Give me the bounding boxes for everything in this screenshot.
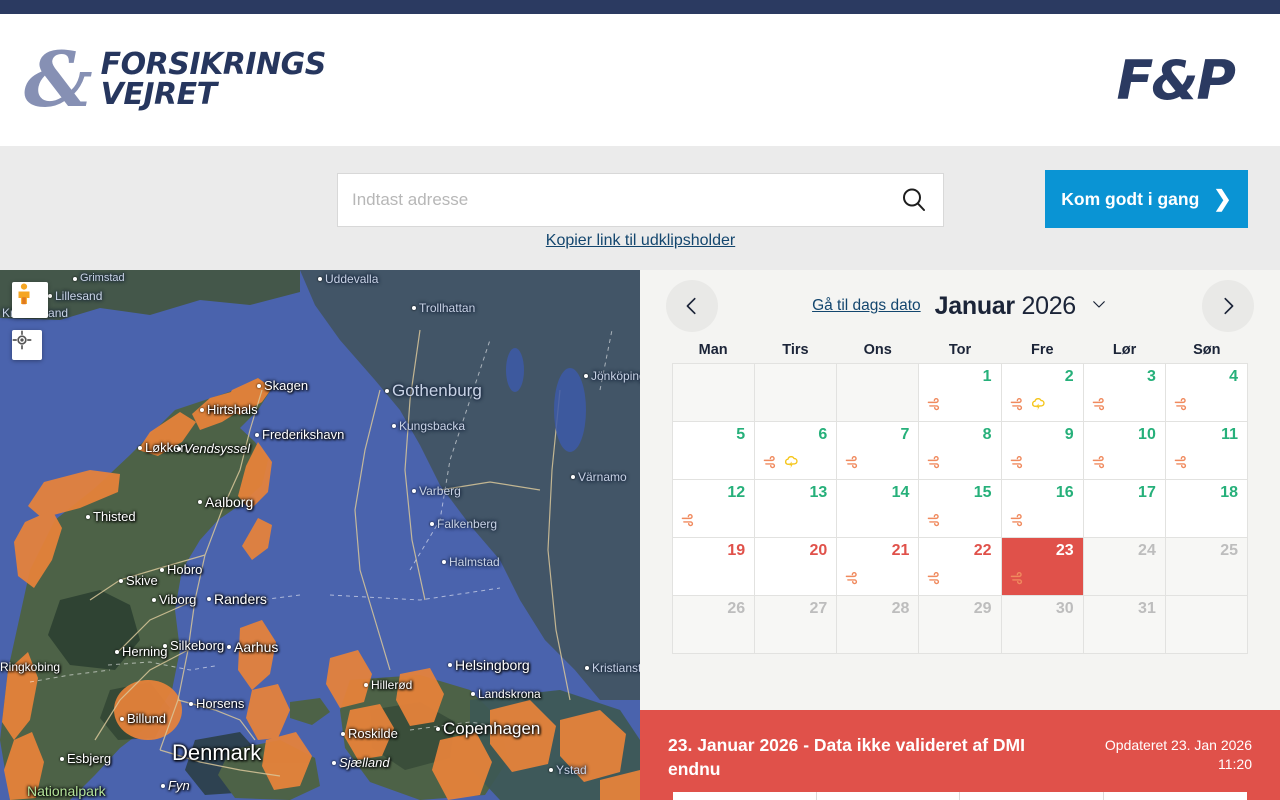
day-weather-icons [1010,395,1047,413]
previous-month-button[interactable] [666,280,718,332]
day-weather-icons [927,511,944,529]
day-weather-icons [1174,453,1191,471]
calendar-day-4[interactable]: 4 [1166,364,1248,422]
forecast-table-col-2 [817,792,961,800]
forecast-table-col-1 [673,792,817,800]
calendar-day-25: 25 [1166,538,1248,596]
wind-icon [845,570,862,587]
address-search-box[interactable] [337,173,944,227]
day-number: 22 [919,543,991,559]
day-weather-icons [1092,395,1109,413]
calendar-day-15[interactable]: 15 [919,480,1001,538]
day-number: 5 [673,427,745,443]
day-number: 9 [1002,427,1074,443]
chevron-down-icon[interactable] [1090,295,1108,318]
search-input[interactable] [352,190,899,210]
weekday-label: Tirs [754,342,836,358]
calendar-day-5[interactable]: 5 [673,422,755,480]
wind-icon [1174,396,1191,413]
next-month-button[interactable] [1202,280,1254,332]
month-name: Januar [935,292,1015,320]
day-number: 25 [1166,543,1238,559]
calendar-day-6[interactable]: 6 [755,422,837,480]
calendar-grid[interactable]: 1234567891011121314151617181920212223242… [672,363,1248,654]
calendar-cell-empty [1166,596,1248,654]
day-weather-icons [763,453,800,471]
calendar-day-14[interactable]: 14 [837,480,919,538]
day-number: 6 [755,427,827,443]
main-content: GrimstadLillesandKristiansandUddevallaTr… [0,270,1280,800]
year-value: 2026 [1022,292,1076,320]
calendar-day-3[interactable]: 3 [1084,364,1166,422]
calendar-day-1[interactable]: 1 [919,364,1001,422]
wind-icon [1174,454,1191,471]
day-number: 11 [1166,427,1238,443]
banner-title: 23. Januar 2026 - Data ikke valideret af… [668,734,1068,781]
get-started-label: Kom godt i gang [1061,189,1199,210]
day-number: 15 [919,485,991,501]
day-weather-icons [845,569,862,587]
wind-icon [845,454,862,471]
calendar-day-17[interactable]: 17 [1084,480,1166,538]
day-number: 8 [919,427,991,443]
calendar-day-19[interactable]: 19 [673,538,755,596]
calendar-day-2[interactable]: 2 [1002,364,1084,422]
calendar-day-29: 29 [919,596,1001,654]
calendar-day-27: 27 [755,596,837,654]
wind-icon [927,570,944,587]
weekday-label: Man [672,342,754,358]
day-number: 4 [1166,369,1238,385]
day-weather-icons [1010,453,1027,471]
wind-icon [1010,512,1027,529]
calendar-title-group: Gå til dags dato Januar 2026 [718,292,1202,321]
day-number: 1 [919,369,991,385]
day-number: 30 [1002,601,1074,617]
map-graphics [0,270,640,800]
day-number: 10 [1084,427,1156,443]
brand-line-2: VEJRET [101,80,326,110]
weekday-label: Lør [1083,342,1165,358]
site-header: & FORSIKRINGS VEJRET F&P [0,14,1280,146]
day-number: 20 [755,543,827,559]
day-number: 23 [1002,543,1074,559]
day-number: 16 [1002,485,1074,501]
day-number: 21 [837,543,909,559]
day-weather-icons [927,395,944,413]
day-number: 12 [673,485,745,501]
day-number: 26 [673,601,745,617]
day-number: 31 [1084,601,1156,617]
day-number: 19 [673,543,745,559]
day-number: 29 [919,601,991,617]
wind-icon [763,454,780,471]
calendar-day-26: 26 [673,596,755,654]
weekday-label: Fre [1001,342,1083,358]
wind-icon [927,396,944,413]
calendar-cell-empty [837,364,919,422]
wind-icon [1010,396,1027,413]
my-location-icon[interactable] [12,330,42,360]
weekday-label: Ons [837,342,919,358]
weekday-label: Søn [1166,342,1248,358]
brand-line-1: FORSIKRINGS [101,50,326,80]
brand-logo[interactable]: & FORSIKRINGS VEJRET [24,48,326,113]
weekday-header-row: ManTirsOnsTorFreLørSøn [640,342,1280,358]
forecast-table-top[interactable] [673,792,1247,800]
wind-icon [1092,454,1109,471]
calendar-day-22[interactable]: 22 [919,538,1001,596]
day-weather-icons [681,511,698,529]
day-number: 24 [1084,543,1156,559]
calendar-day-16[interactable]: 16 [1002,480,1084,538]
day-number: 18 [1166,485,1238,501]
ampersand-logo-icon: & [24,48,91,113]
thunderstorm-icon [1030,396,1047,413]
day-number: 17 [1084,485,1156,501]
calendar-day-24: 24 [1084,538,1166,596]
calendar-cell-empty [755,364,837,422]
day-weather-icons [1010,511,1027,529]
day-number: 3 [1084,369,1156,385]
calendar-day-11[interactable]: 11 [1166,422,1248,480]
address-search-wrapper [337,173,944,227]
forecast-table-col-3 [960,792,1104,800]
calendar-cell-empty [673,364,755,422]
brand-wordmark: FORSIKRINGS VEJRET [101,50,326,110]
go-to-today-link[interactable]: Gå til dags dato [812,297,921,315]
calendar-day-20[interactable]: 20 [755,538,837,596]
thunderstorm-icon [783,454,800,471]
chevron-left-icon [681,295,703,317]
validation-banner: 23. Januar 2026 - Data ikke valideret af… [640,710,1280,800]
calendar-day-31: 31 [1084,596,1166,654]
street-view-pegman-icon[interactable] [12,282,48,318]
fp-partner-logo[interactable]: F&P [1116,49,1234,112]
calendar-day-23[interactable]: 23 [1002,538,1084,596]
map-canvas[interactable]: GrimstadLillesandKristiansandUddevallaTr… [0,270,640,800]
chevron-right-icon: ❯ [1213,188,1231,210]
day-weather-icons [927,569,944,587]
calendar-day-21[interactable]: 21 [837,538,919,596]
wind-icon [927,454,944,471]
wind-icon [681,512,698,529]
calendar-day-7[interactable]: 7 [837,422,919,480]
wind-icon [1010,570,1027,587]
calendar-header: Gå til dags dato Januar 2026 [640,270,1280,342]
calendar-day-10[interactable]: 10 [1084,422,1166,480]
calendar-panel: Gå til dags dato Januar 2026 ManTirsOnsT… [640,270,1280,800]
calendar-day-13[interactable]: 13 [755,480,837,538]
day-weather-icons [927,453,944,471]
calendar-day-9[interactable]: 9 [1002,422,1084,480]
wind-icon [927,512,944,529]
day-number: 2 [1002,369,1074,385]
month-year-label[interactable]: Januar 2026 [935,292,1076,321]
chevron-right-icon [1217,295,1239,317]
calendar-day-12[interactable]: 12 [673,480,755,538]
day-weather-icons [845,453,862,471]
search-icon[interactable] [899,185,929,215]
day-number: 7 [837,427,909,443]
wind-icon [1092,396,1109,413]
weekday-label: Tor [919,342,1001,358]
day-weather-icons [1092,453,1109,471]
calendar-day-28: 28 [837,596,919,654]
get-started-button[interactable]: Kom godt i gang ❯ [1045,170,1248,228]
day-weather-icons [1174,395,1191,413]
copy-link-to-clipboard[interactable]: Kopier link til udklipsholder [337,232,944,250]
top-navy-bar [0,0,1280,14]
day-number: 14 [837,485,909,501]
banner-updated-timestamp: Opdateret 23. Jan 2026 11:20 [1105,736,1252,774]
day-number: 13 [755,485,827,501]
calendar-day-8[interactable]: 8 [919,422,1001,480]
day-weather-icons [1010,569,1027,587]
calendar-day-18[interactable]: 18 [1166,480,1248,538]
calendar-day-30: 30 [1002,596,1084,654]
forecast-table-col-4 [1104,792,1248,800]
day-number: 28 [837,601,909,617]
wind-icon [1010,454,1027,471]
day-number: 27 [755,601,827,617]
